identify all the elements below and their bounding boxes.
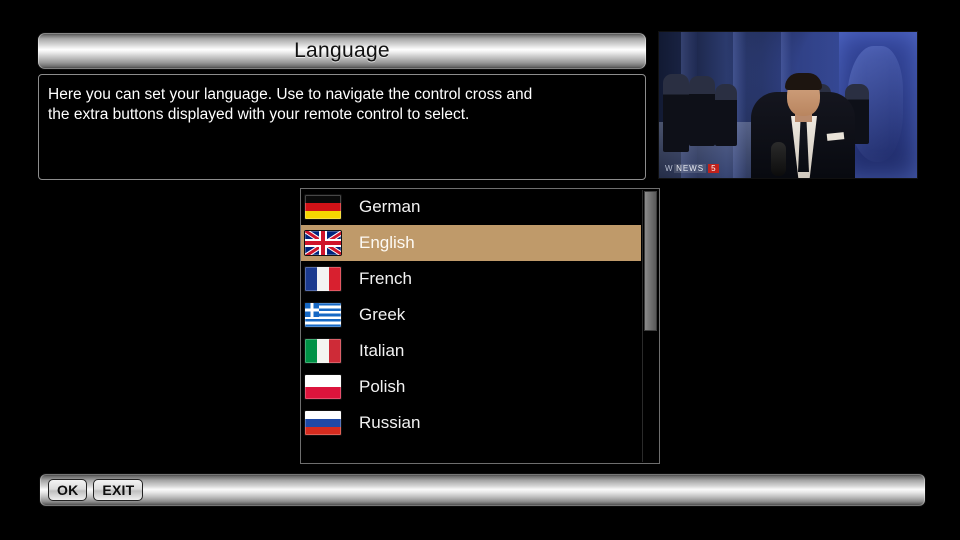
language-list-item-label: Russian	[359, 413, 420, 433]
list-scrollbar-track[interactable]	[642, 190, 658, 462]
flag-fr-icon	[305, 267, 341, 291]
video-microphone	[771, 142, 786, 176]
language-list: GermanEnglishFrenchGreekItalianPolishRus…	[301, 189, 641, 441]
page-title: Language	[294, 39, 390, 63]
language-list-item[interactable]: German	[301, 189, 641, 225]
flag-gb-stripe	[321, 231, 325, 255]
osd-screen: Language Here you can set your language.…	[0, 0, 960, 540]
language-list-item[interactable]: Italian	[301, 333, 641, 369]
list-scrollbar-thumb[interactable]	[644, 191, 657, 331]
language-list-item[interactable]: Russian	[301, 405, 641, 441]
video-crowd-figure	[689, 76, 715, 146]
flag-it-icon	[305, 339, 341, 363]
channel-bug-part2: NEWS	[674, 164, 706, 173]
exit-button[interactable]: EXIT	[93, 479, 143, 501]
channel-bug-part3: 5	[708, 164, 718, 173]
video-crowd-figure	[663, 74, 689, 152]
language-list-panel: GermanEnglishFrenchGreekItalianPolishRus…	[300, 188, 660, 464]
video-crowd-figure	[715, 84, 737, 146]
language-list-item[interactable]: Polish	[301, 369, 641, 405]
channel-bug-part1: W	[665, 164, 672, 173]
language-list-item-label: German	[359, 197, 420, 217]
channel-logo-bug: W NEWS 5	[665, 162, 719, 174]
flag-ru-icon	[305, 411, 341, 435]
ok-button[interactable]: OK	[48, 479, 87, 501]
language-list-item-label: French	[359, 269, 412, 289]
language-list-item[interactable]: English	[301, 225, 641, 261]
flag-gr-icon	[305, 303, 341, 327]
language-list-item-label: Polish	[359, 377, 405, 397]
language-list-item-label: English	[359, 233, 415, 253]
language-list-item-label: Greek	[359, 305, 405, 325]
language-list-item[interactable]: French	[301, 261, 641, 297]
language-list-item-label: Italian	[359, 341, 404, 361]
help-text-box: Here you can set your language. Use to n…	[38, 74, 646, 180]
flag-de-icon	[305, 195, 341, 219]
bottom-action-bar: OK EXIT	[40, 474, 925, 506]
video-reporter-hair	[785, 73, 822, 90]
help-text-line-2: the extra buttons displayed with your re…	[48, 105, 636, 125]
flag-gb-icon	[305, 231, 341, 255]
window-title-bar: Language	[38, 33, 646, 69]
help-text-line-1: Here you can set your language. Use to n…	[48, 85, 636, 105]
flag-pl-icon	[305, 375, 341, 399]
video-preview[interactable]: W NEWS 5	[658, 31, 918, 179]
language-list-item[interactable]: Greek	[301, 297, 641, 333]
